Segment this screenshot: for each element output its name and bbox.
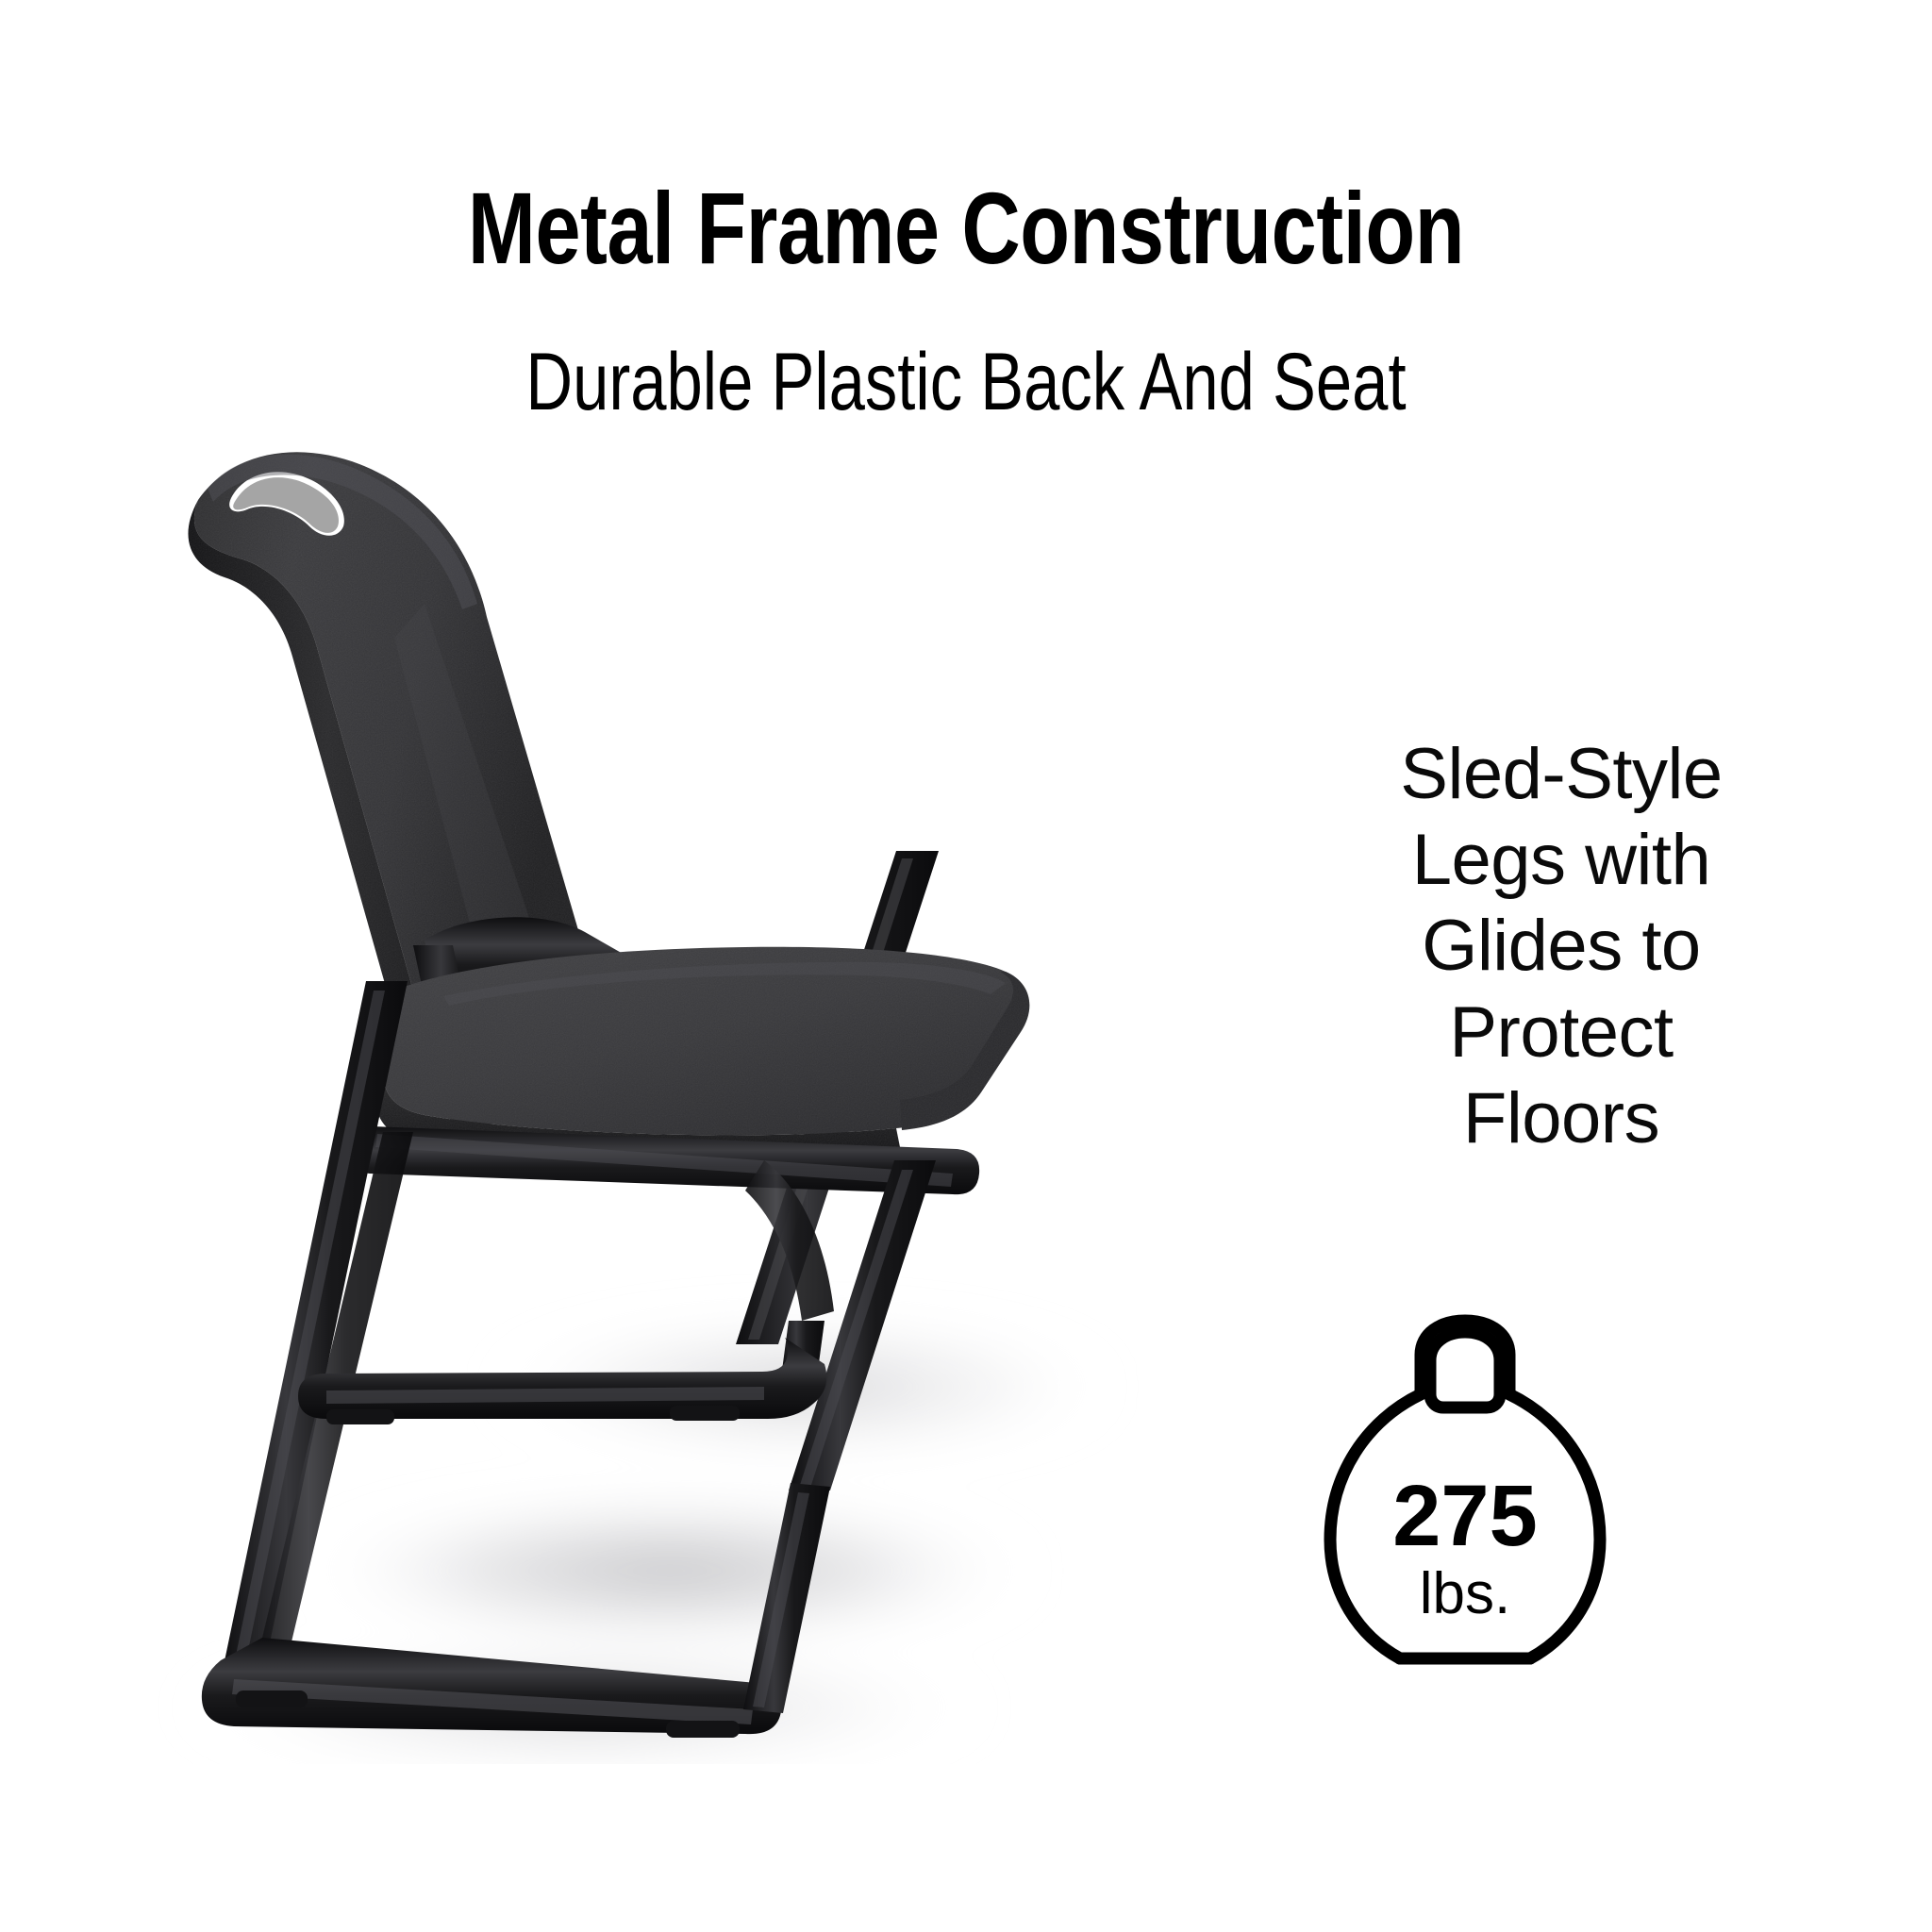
weight-value: 275 (1392, 1468, 1538, 1564)
feature-line-2: Legs with (1311, 817, 1811, 903)
page-title: Metal Frame Construction (193, 177, 1739, 279)
kettlebell-weight-icon: 275 lbs. (1309, 1309, 1621, 1687)
glide-pad (666, 1721, 740, 1738)
weight-capacity-badge: 275 lbs. (1309, 1309, 1621, 1687)
product-image (142, 415, 1198, 1764)
glide-pad (236, 1690, 308, 1707)
glide-pad (670, 1406, 740, 1421)
weight-unit: lbs. (1420, 1561, 1510, 1626)
feature-callout: Sled-Style Legs with Glides to Protect F… (1311, 731, 1811, 1161)
feature-line-3: Glides to (1311, 903, 1811, 989)
feature-line-5: Floors (1311, 1075, 1811, 1161)
kettlebell-handle (1430, 1332, 1500, 1407)
glide-pad (326, 1409, 394, 1424)
page-subtitle: Durable Plastic Back And Seat (193, 341, 1739, 423)
feature-line-4: Protect (1311, 990, 1811, 1075)
feature-line-1: Sled-Style (1311, 731, 1811, 817)
poster-canvas: Metal Frame Construction Durable Plastic… (0, 0, 1932, 1932)
